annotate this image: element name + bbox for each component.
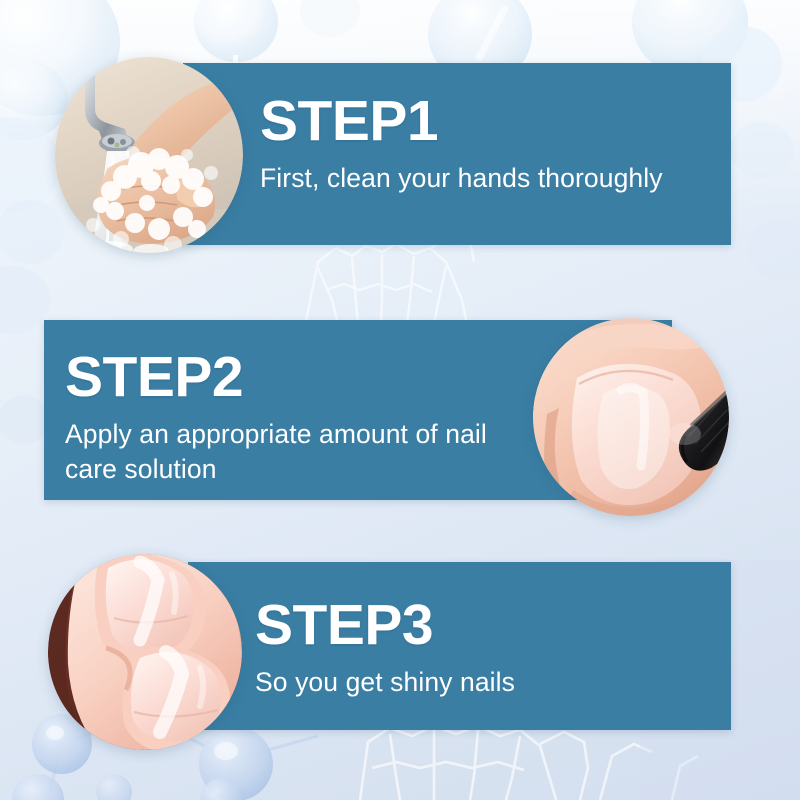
step-1-title: STEP1	[260, 92, 663, 152]
step-1-text-block: STEP1 First, clean your hands thoroughly	[260, 92, 663, 196]
shiny-nails-photo	[48, 554, 242, 750]
step-2-description: Apply an appropriate amount of nail care…	[65, 417, 525, 487]
nail-brush-application-photo	[533, 318, 729, 516]
step-3-text-block: STEP3 So you get shiny nails	[255, 596, 515, 700]
step-2-text-block: STEP2 Apply an appropriate amount of nai…	[65, 348, 525, 487]
step-1-description: First, clean your hands thoroughly	[260, 161, 663, 196]
step-3-title: STEP3	[255, 596, 515, 656]
step-2-title: STEP2	[65, 348, 525, 408]
step-3-description: So you get shiny nails	[255, 665, 515, 700]
washing-hands-photo	[55, 57, 243, 253]
hands-line-art-bottom	[360, 726, 698, 800]
